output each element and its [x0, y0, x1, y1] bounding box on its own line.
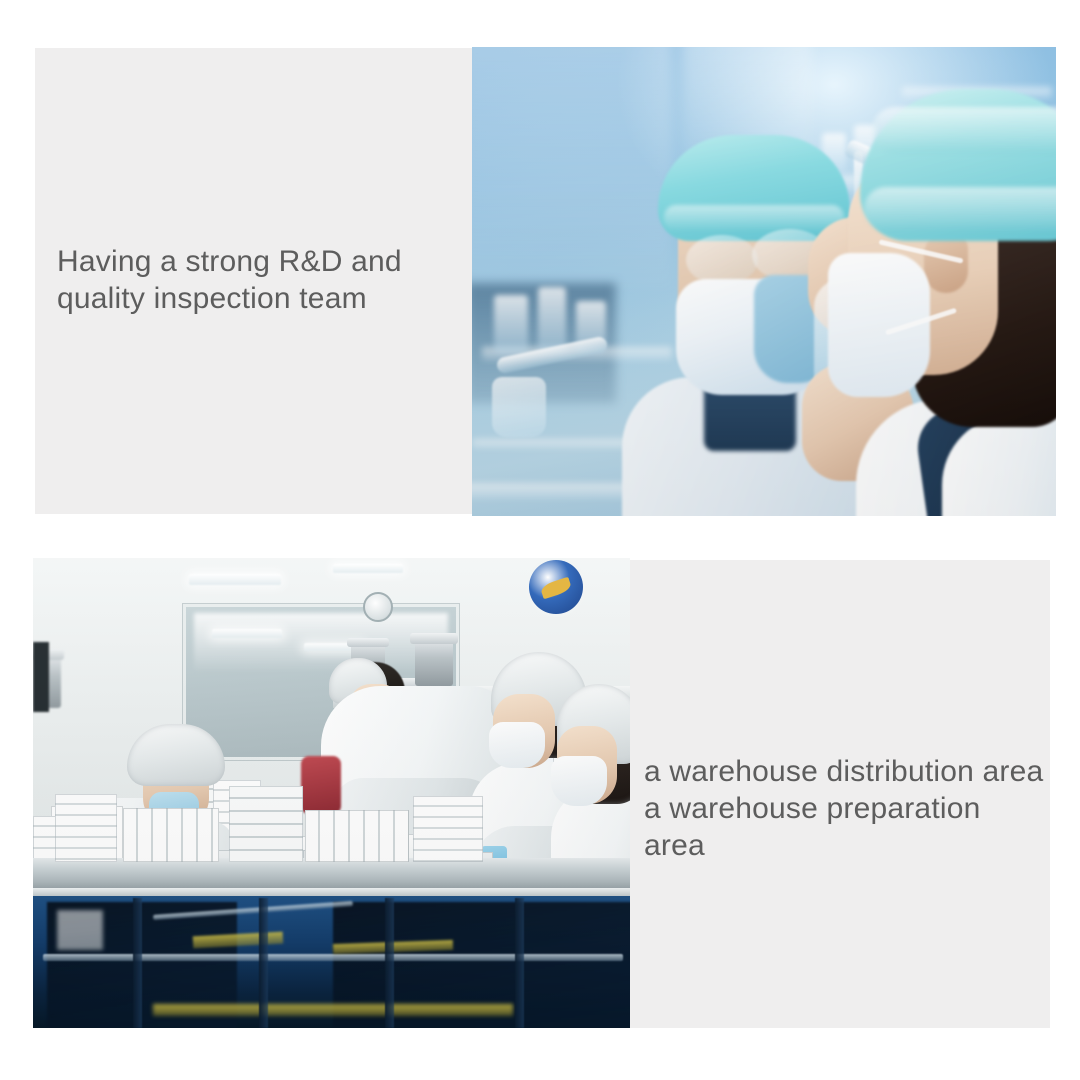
packing-table-surface [33, 858, 630, 892]
lab-worker-a-cap-band [664, 205, 844, 231]
box-stack-front-a [55, 794, 117, 862]
floor-marking-tape-3 [153, 1004, 513, 1016]
packer-4-mask [551, 756, 607, 806]
slide-canvas: Having a strong R&D and quality inspecti… [0, 0, 1080, 1080]
lab-wall-panel [472, 47, 672, 287]
company-logo-sign [529, 560, 583, 614]
warehouse-packing-photo [33, 558, 630, 1028]
box-col-front-b [123, 808, 219, 862]
lab-bottle-1 [494, 295, 528, 353]
packer-3-mask [489, 722, 545, 768]
under-table-box [57, 910, 103, 950]
table-leg-4 [515, 898, 524, 1028]
window-light-reflection-1 [212, 629, 282, 638]
lab-beaker [492, 377, 546, 437]
table-cross-rail [43, 954, 623, 961]
ceiling-light-strip-2 [333, 564, 403, 573]
table-leg-1 [133, 898, 142, 1028]
lab-worker-b-cap-fold-bottom [864, 187, 1056, 231]
box-col-front-d [305, 810, 409, 862]
door-gap-dark [33, 642, 49, 712]
lab-inspection-photo [472, 47, 1056, 516]
rnd-quality-caption: Having a strong R&D and quality inspecti… [57, 243, 457, 317]
packer-2-red-item [301, 756, 341, 814]
table-leg-2 [259, 898, 268, 1028]
wall-clock [363, 592, 393, 622]
warehouse-caption: a warehouse distribution area a warehous… [644, 753, 1044, 864]
table-leg-3 [385, 898, 394, 1028]
lab-worker-a-eyewear-left [686, 235, 758, 285]
box-stack-front-c [229, 786, 303, 862]
lab-bottle-2 [538, 287, 566, 353]
ceiling-light-strip [189, 574, 281, 585]
lab-worker-b-cap-fold-top [872, 107, 1056, 153]
steel-pot-2 [415, 638, 453, 686]
box-stack-front-e [413, 796, 483, 862]
